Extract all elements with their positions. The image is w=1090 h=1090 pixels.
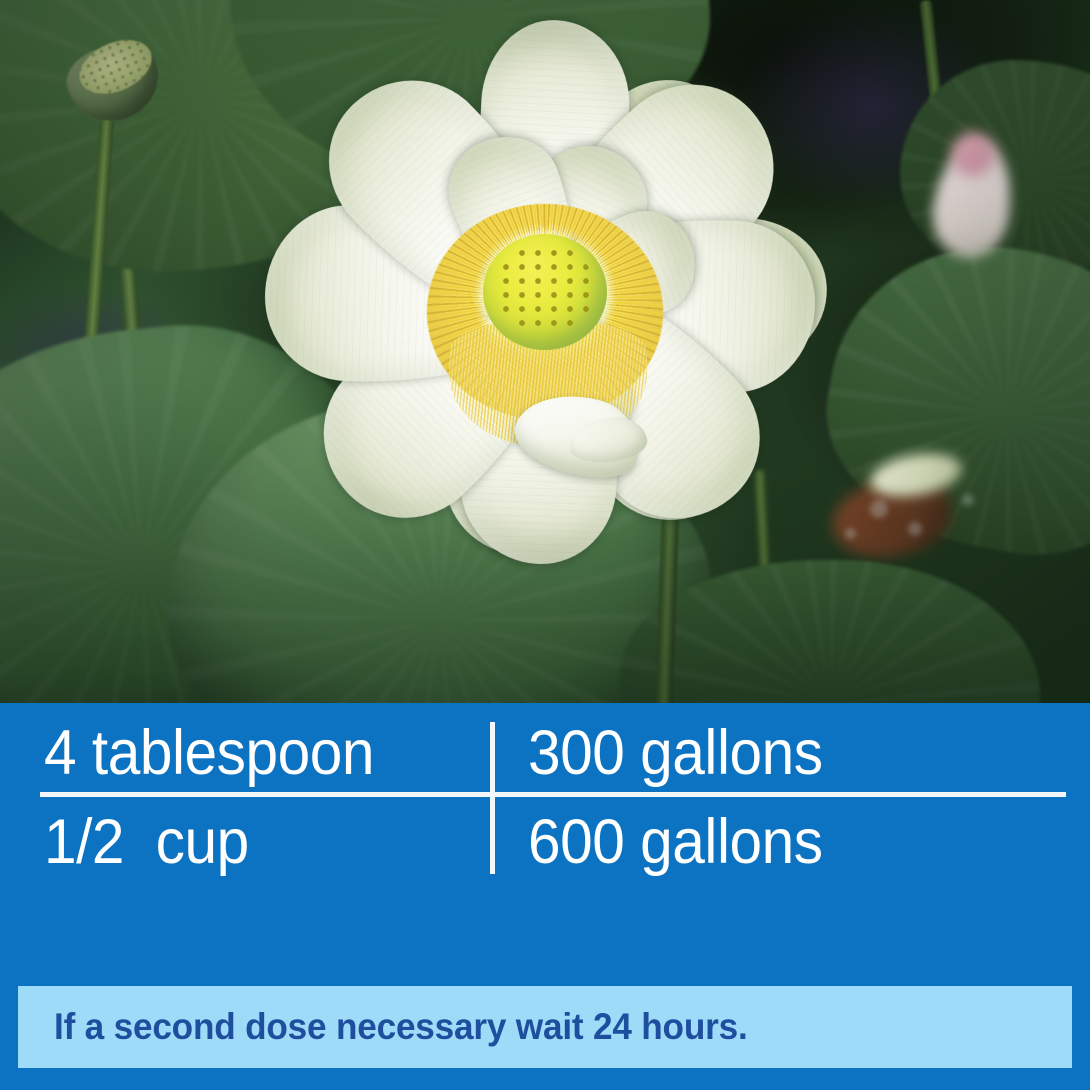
- lotus-photo: [0, 0, 1090, 703]
- table-horizontal-divider: [40, 792, 1066, 797]
- dosage-water-row-1: 300 gallons: [528, 722, 823, 785]
- dosage-amount-row-2: 1/2 cup: [44, 811, 249, 874]
- lotus-bud-tip: [952, 132, 994, 176]
- dosage-amount-row-1: 4 tablespoon: [44, 722, 374, 785]
- bokeh-highlight: [908, 522, 922, 536]
- second-dose-note-text: If a second dose necessary wait 24 hours…: [54, 1006, 748, 1048]
- dosage-panel: 4 tablespoon 300 gallons 1/2 cup 600 gal…: [0, 703, 1090, 1090]
- second-dose-note-banner: If a second dose necessary wait 24 hours…: [18, 986, 1072, 1068]
- dosage-water-row-2: 600 gallons: [528, 811, 823, 874]
- lotus-receptacle: [483, 234, 607, 350]
- bokeh-highlight: [845, 528, 856, 539]
- table-vertical-divider: [490, 722, 495, 874]
- bokeh-highlight: [870, 500, 888, 518]
- dosage-table: 4 tablespoon 300 gallons 1/2 cup 600 gal…: [0, 703, 1090, 888]
- infographic-page: 4 tablespoon 300 gallons 1/2 cup 600 gal…: [0, 0, 1090, 1090]
- bokeh-highlight: [962, 494, 974, 506]
